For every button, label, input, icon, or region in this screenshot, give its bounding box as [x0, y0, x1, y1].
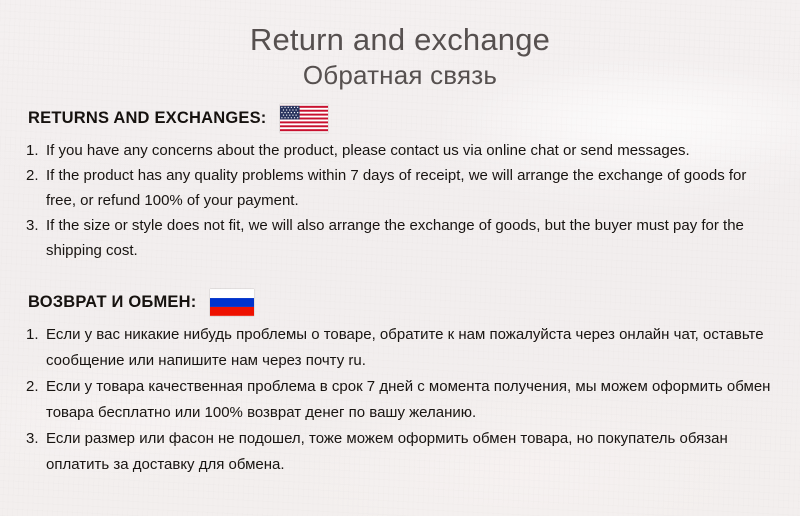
- list-item-text: If the size or style does not fit, we wi…: [46, 213, 772, 263]
- returns-rules-list-english: 1. If you have any concerns about the pr…: [0, 138, 800, 263]
- section-heading-english: RETURNS AND EXCHANGES:: [0, 104, 800, 133]
- returns-and-exchanges-section: RETURNS AND EXCHANGES:: [0, 104, 800, 263]
- list-item: 3. If the size or style does not fit, we…: [26, 213, 772, 263]
- list-item-marker: 3.: [26, 213, 46, 238]
- list-item-text: Если у товара качественная проблема в ср…: [46, 374, 776, 426]
- list-item-marker: 2.: [26, 163, 46, 188]
- list-item: 1. If you have any concerns about the pr…: [26, 138, 772, 163]
- section-heading-label-english: RETURNS AND EXCHANGES:: [28, 109, 266, 128]
- list-item-marker: 3.: [26, 426, 46, 452]
- ru-flag-icon: [210, 289, 254, 316]
- list-item: 2. If the product has any quality proble…: [26, 163, 772, 213]
- list-item-text: Если размер или фасон не подошел, тоже м…: [46, 426, 776, 478]
- page-title-block: Return and exchange Обратная связь: [0, 0, 800, 91]
- returns-rules-list-russian: 1. Если у вас никакие нибудь проблемы о …: [0, 322, 800, 478]
- section-heading-label-russian: ВОЗВРАТ И ОБМЕН:: [28, 293, 196, 312]
- list-item: 2. Если у товара качественная проблема в…: [26, 374, 776, 426]
- list-item-marker: 1.: [26, 322, 46, 348]
- page-title-russian: Обратная связь: [0, 59, 800, 91]
- vozvrat-i-obmen-section: ВОЗВРАТ И ОБМЕН: 1. Если у вас никакие н…: [0, 289, 800, 478]
- list-item-text: If the product has any quality problems …: [46, 163, 772, 213]
- list-item-marker: 1.: [26, 138, 46, 163]
- section-heading-russian: ВОЗВРАТ И ОБМЕН:: [0, 289, 800, 316]
- list-item: 1. Если у вас никакие нибудь проблемы о …: [26, 322, 776, 374]
- page-title-english: Return and exchange: [0, 22, 800, 58]
- list-item-marker: 2.: [26, 374, 46, 400]
- list-item-text: Если у вас никакие нибудь проблемы о тов…: [46, 322, 776, 374]
- us-flag-icon: [280, 104, 328, 133]
- list-item: 3. Если размер или фасон не подошел, тож…: [26, 426, 776, 478]
- list-item-text: If you have any concerns about the produ…: [46, 138, 772, 163]
- return-and-exchange-page: Return and exchange Обратная связь RETUR…: [0, 0, 800, 516]
